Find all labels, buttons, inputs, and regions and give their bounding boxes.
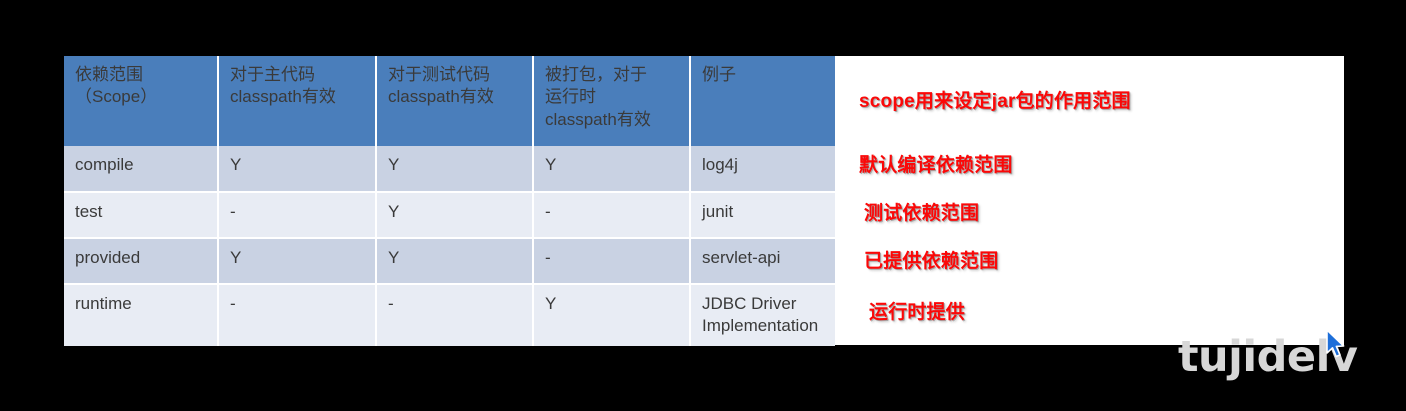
cell-main-classpath: -: [218, 192, 376, 238]
annotation-provided: 已提供依赖范围: [864, 246, 998, 273]
cell-main-classpath: -: [218, 284, 376, 346]
annotation-scope: scope用来设定jar包的作用范围: [859, 86, 1131, 113]
cell-runtime-classpath: -: [533, 238, 690, 284]
column-header-scope: 依赖范围 （Scope）: [64, 56, 218, 146]
annotation-compile: 默认编译依赖范围: [859, 150, 1013, 177]
cell-example-line-1: JDBC Driver: [702, 293, 825, 315]
cell-test-classpath: Y: [376, 192, 533, 238]
column-header-test-classpath-line-2: classpath有效: [388, 86, 522, 108]
table-row: runtime - - Y JDBC Driver Implementation: [64, 284, 835, 346]
cell-example-line-1: servlet-api: [702, 247, 825, 269]
column-header-runtime-classpath-line-3: classpath有效: [545, 109, 679, 131]
annotation-test: 测试依赖范围: [864, 198, 979, 225]
cell-scope: compile: [64, 146, 218, 192]
column-header-test-classpath-line-1: 对于测试代码: [388, 64, 522, 86]
column-header-example-line-1: 例子: [702, 64, 825, 86]
dependency-scope-table: 依赖范围 （Scope） 对于主代码 classpath有效 对于测试代码 cl…: [64, 56, 835, 346]
column-header-scope-line-1: 依赖范围: [75, 64, 207, 86]
table-header-row: 依赖范围 （Scope） 对于主代码 classpath有效 对于测试代码 cl…: [64, 56, 835, 146]
cell-main-classpath: Y: [218, 146, 376, 192]
cell-example-line-1: junit: [702, 201, 825, 223]
cell-runtime-classpath: -: [533, 192, 690, 238]
cell-scope: runtime: [64, 284, 218, 346]
annotation-runtime: 运行时提供: [869, 297, 965, 324]
cell-example-line-1: log4j: [702, 154, 825, 176]
cell-runtime-classpath: Y: [533, 284, 690, 346]
cell-test-classpath: Y: [376, 238, 533, 284]
table-header: 依赖范围 （Scope） 对于主代码 classpath有效 对于测试代码 cl…: [64, 56, 835, 146]
column-header-scope-line-2: （Scope）: [75, 86, 207, 108]
cell-example-line-2: Implementation: [702, 315, 825, 337]
cell-example: log4j: [690, 146, 835, 192]
column-header-runtime-classpath: 被打包，对于 运行时 classpath有效: [533, 56, 690, 146]
column-header-main-classpath: 对于主代码 classpath有效: [218, 56, 376, 146]
column-header-example: 例子: [690, 56, 835, 146]
cell-scope: test: [64, 192, 218, 238]
cell-example: servlet-api: [690, 238, 835, 284]
column-header-main-classpath-line-2: classpath有效: [230, 86, 365, 108]
cell-test-classpath: -: [376, 284, 533, 346]
table-body: compile Y Y Y log4j test - Y - junit pro…: [64, 146, 835, 346]
table-row: provided Y Y - servlet-api: [64, 238, 835, 284]
column-header-runtime-classpath-line-1: 被打包，对于: [545, 64, 679, 86]
cell-example: junit: [690, 192, 835, 238]
table-row: compile Y Y Y log4j: [64, 146, 835, 192]
watermark: tujidelv: [1178, 332, 1357, 382]
column-header-main-classpath-line-1: 对于主代码: [230, 64, 365, 86]
column-header-test-classpath: 对于测试代码 classpath有效: [376, 56, 533, 146]
cell-example: JDBC Driver Implementation: [690, 284, 835, 346]
cell-runtime-classpath: Y: [533, 146, 690, 192]
cell-scope: provided: [64, 238, 218, 284]
table-row: test - Y - junit: [64, 192, 835, 238]
cell-test-classpath: Y: [376, 146, 533, 192]
column-header-runtime-classpath-line-2: 运行时: [545, 86, 679, 108]
cell-main-classpath: Y: [218, 238, 376, 284]
slide-canvas: 依赖范围 （Scope） 对于主代码 classpath有效 对于测试代码 cl…: [64, 56, 1344, 345]
